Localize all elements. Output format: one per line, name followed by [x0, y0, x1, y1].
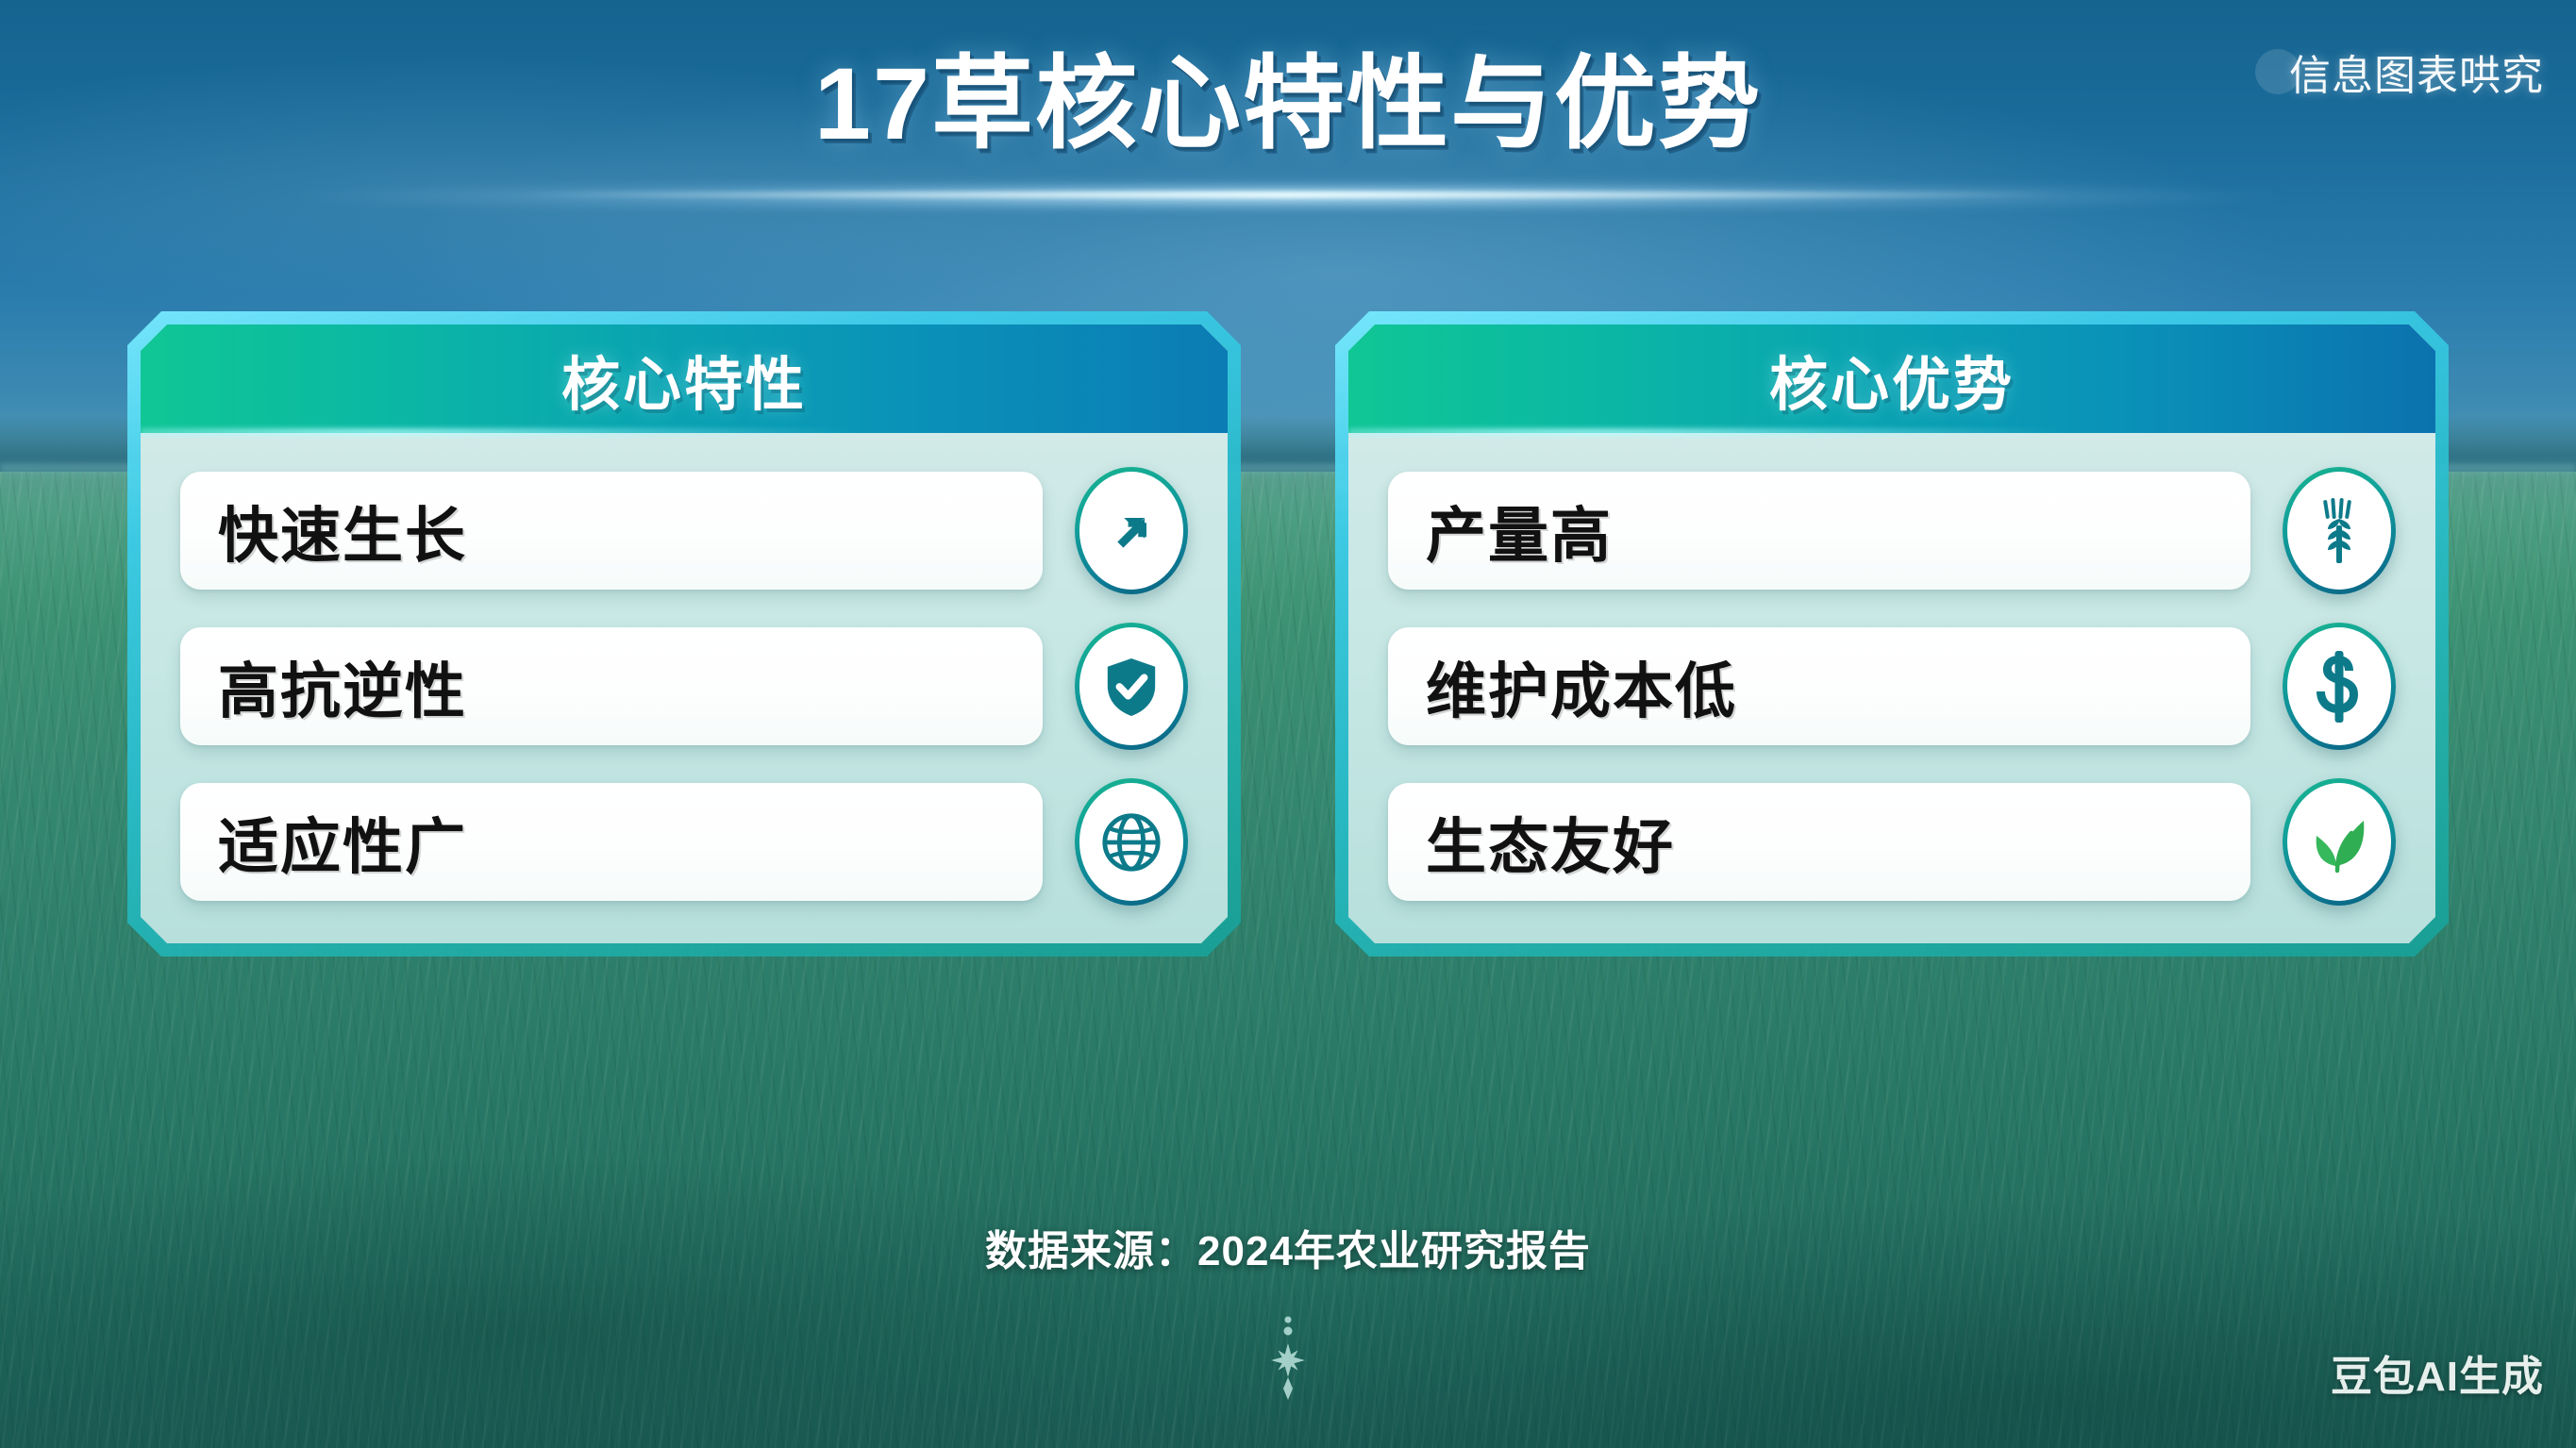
card-core-features-header-title: 核心特性	[561, 337, 807, 422]
card-core-advantages-header: 核心优势	[1348, 325, 2435, 433]
advantage-pill-low-maintenance-cost[interactable]: 维护成本低	[1388, 627, 2250, 745]
card-core-features-inner: 核心特性 快速生长	[141, 325, 1228, 943]
leaf-icon	[2283, 778, 2396, 906]
feature-label: 适应性广	[218, 799, 467, 886]
card-core-advantages: 核心优势 产量高	[1335, 311, 2449, 957]
card-core-features-header: 核心特性	[141, 325, 1228, 433]
list-item[interactable]: 快速生长	[180, 467, 1188, 594]
globe-icon	[1075, 778, 1188, 906]
arrow-up-right-icon	[1075, 467, 1188, 594]
card-core-advantages-body: 产量高	[1348, 433, 2435, 943]
list-item[interactable]: 维护成本低	[1388, 623, 2396, 750]
feature-pill-fast-growth[interactable]: 快速生长	[180, 472, 1043, 590]
list-item[interactable]: 生态友好	[1388, 778, 2396, 906]
advantage-label: 维护成本低	[1426, 643, 1737, 730]
watermark-bottom-right: 豆包AI生成	[2331, 1342, 2544, 1403]
list-item[interactable]: 高抗逆性	[180, 623, 1188, 750]
source-note: 数据来源：2024年农业研究报告	[0, 1217, 2576, 1277]
sparkle-icon	[1255, 1315, 1321, 1410]
feature-label: 快速生长	[218, 488, 467, 574]
feature-pill-wide-adaptability[interactable]: 适应性广	[180, 783, 1043, 901]
watermark-top-right-label: 信息图表哄究	[2289, 42, 2544, 102]
wheat-icon	[2283, 467, 2396, 594]
infographic-stage: 17草核心特性与优势 信息图表哄究 核心特性 快速生长	[0, 0, 2576, 1448]
card-core-advantages-header-title: 核心优势	[1769, 337, 2015, 422]
card-core-advantages-inner: 核心优势 产量高	[1348, 325, 2435, 943]
title-glow-line	[515, 191, 2061, 198]
advantage-label: 生态友好	[1426, 799, 1675, 886]
advantage-pill-eco-friendly[interactable]: 生态友好	[1388, 783, 2250, 901]
list-item[interactable]: 适应性广	[180, 778, 1188, 906]
page-title: 17草核心特性与优势	[814, 45, 1762, 162]
card-core-features: 核心特性 快速生长	[127, 311, 1241, 957]
cards-container: 核心特性 快速生长	[0, 311, 2576, 957]
shield-check-icon	[1075, 623, 1188, 750]
card-core-features-body: 快速生长	[141, 433, 1228, 943]
page-title-wrap: 17草核心特性与优势	[0, 45, 2576, 162]
feature-pill-high-stress-resistance[interactable]: 高抗逆性	[180, 627, 1043, 745]
advantage-pill-high-yield[interactable]: 产量高	[1388, 472, 2250, 590]
watermark-top-right: 信息图表哄究	[2255, 42, 2544, 102]
feature-label: 高抗逆性	[218, 643, 467, 730]
list-item[interactable]: 产量高	[1388, 467, 2396, 594]
dollar-icon	[2283, 623, 2396, 750]
advantage-label: 产量高	[1426, 488, 1613, 574]
